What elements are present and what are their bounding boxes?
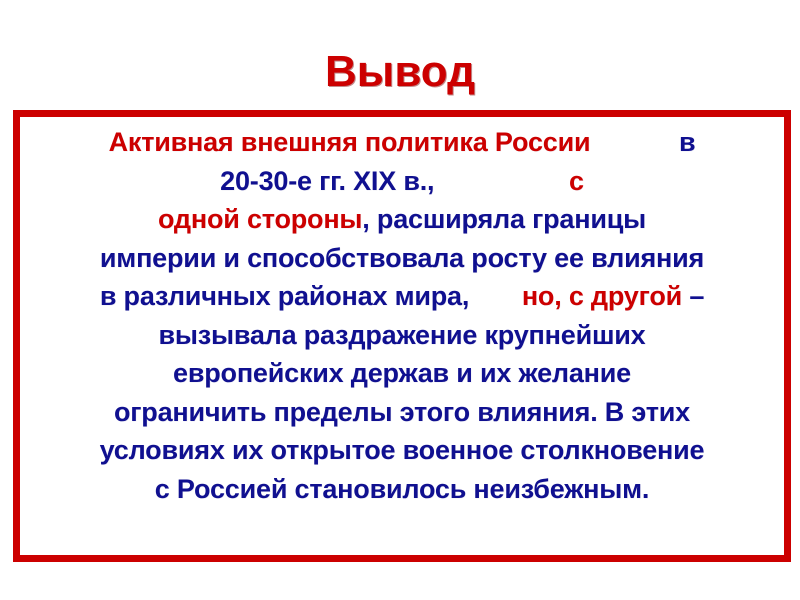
body-line-1-segment-a: Активная внешняя политика России	[109, 127, 591, 157]
presentation-slide: Вывод Активная внешняя политика России в…	[0, 0, 800, 600]
body-line-8-segment-a: ограничить пределы этого влияния. В этих	[114, 397, 690, 427]
body-line-2-segment-a: 20-30-е гг. XIX в.,	[220, 166, 434, 196]
body-line-2-segment-b: с	[569, 166, 584, 196]
content-frame: Активная внешняя политика России в 20-30…	[13, 110, 791, 562]
body-line-3-segment-a: одной стороны	[158, 204, 362, 234]
body-line-3: одной стороны, расширяла границы	[20, 200, 784, 239]
body-line-5-segment-b: но, с другой	[522, 281, 682, 311]
body-line-10-segment-a: с Россией становилось неизбежным.	[155, 474, 649, 504]
body-line-3-segment-b: , расширяла границы	[362, 204, 646, 234]
body-line-5-segment-c: –	[689, 281, 704, 311]
body-line-4-segment-a: империи и способствовала росту ее влияни…	[100, 243, 704, 273]
body-line-1-segment-b: в	[679, 127, 695, 157]
body-line-7: европейских держав и их желание	[20, 354, 784, 393]
body-line-5-segment-a: в различных районах мира,	[100, 281, 469, 311]
body-line-7-segment-a: европейских держав и их желание	[173, 358, 631, 388]
slide-body-text: Активная внешняя политика России в 20-30…	[20, 123, 784, 508]
body-line-9-segment-a: условиях их открытое военное столкновени…	[100, 435, 705, 465]
body-line-6: вызывала раздражение крупнейших	[20, 316, 784, 355]
body-line-4: империи и способствовала росту ее влияни…	[20, 239, 784, 278]
body-line-1: Активная внешняя политика России в	[20, 123, 784, 162]
body-line-8: ограничить пределы этого влияния. В этих	[20, 393, 784, 432]
body-line-9: условиях их открытое военное столкновени…	[20, 431, 784, 470]
body-line-2: 20-30-е гг. XIX в., с	[20, 162, 784, 201]
body-line-10: с Россией становилось неизбежным.	[20, 470, 784, 509]
page-title: Вывод	[0, 46, 800, 98]
body-line-6-segment-a: вызывала раздражение крупнейших	[158, 320, 645, 350]
body-line-5: в различных районах мира, но, с другой –	[20, 277, 784, 316]
